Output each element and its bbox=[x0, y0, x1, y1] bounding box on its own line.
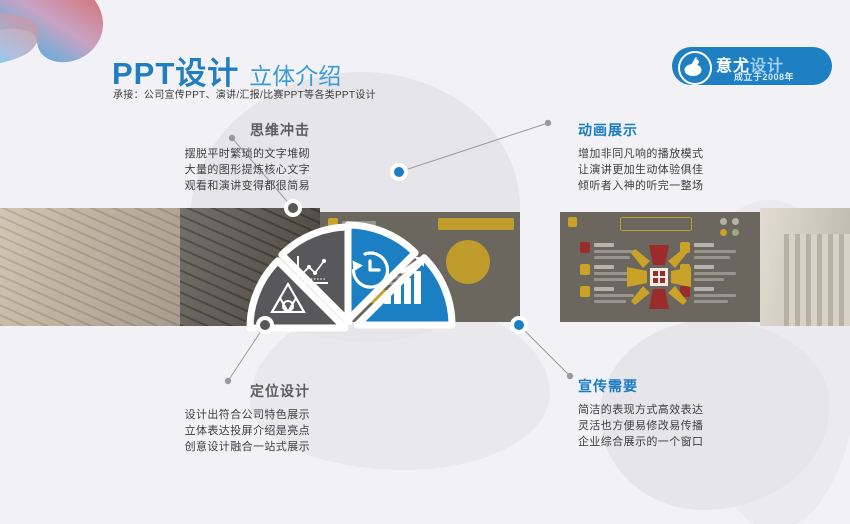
callout-line: 企业综合展示的一个窗口 bbox=[578, 434, 810, 450]
callout-title: 动画展示 bbox=[578, 120, 810, 140]
callout-title: 宣传需要 bbox=[578, 376, 810, 396]
callout-line: 立体表达投屏介绍是亮点 bbox=[78, 423, 310, 439]
callout-top-left: 思维冲击 摆脱平时繁琐的文字堆砌 大量的图形提炼核心文字 观看和演讲变得都很简易 bbox=[78, 120, 310, 194]
endpoint-dot-top-right bbox=[545, 120, 551, 126]
callout-line: 观看和演讲变得都很简易 bbox=[78, 178, 310, 194]
callout-bottom-right: 宣传需要 简洁的表现方式高效表达 灵活也方便易修改易传播 企业综合展示的一个窗口 bbox=[578, 376, 810, 450]
callout-line: 大量的图形提炼核心文字 bbox=[78, 162, 310, 178]
ppt-slide-preview-2 bbox=[560, 212, 760, 322]
callout-line: 简洁的表现方式高效表达 bbox=[578, 402, 810, 418]
wood-texture-left bbox=[0, 208, 180, 326]
callout-line: 创意设计融合一站式展示 bbox=[78, 439, 310, 455]
header-description: 承接：公司宣传PPT、演讲/汇报/比赛PPT等各类PPT设计 bbox=[113, 86, 376, 101]
endpoint-dot-bottom-right bbox=[567, 373, 573, 379]
callout-line: 增加非同凡响的播放模式 bbox=[578, 146, 810, 162]
callout-top-right: 动画展示 增加非同凡响的播放模式 让演讲更加生动体验俱佳 倾听者入神的听完一整场 bbox=[578, 120, 810, 194]
logo-established: 成立于2008年 bbox=[734, 70, 794, 83]
callout-line: 让演讲更加生动体验俱佳 bbox=[578, 162, 810, 178]
slide-canvas: PPT设计立体介绍 承接：公司宣传PPT、演讲/汇报/比赛PPT等各类PPT设计… bbox=[0, 0, 850, 524]
callout-line: 倾听者入神的听完一整场 bbox=[578, 178, 810, 194]
company-logo[interactable]: 意尤设计 成立于2008年 bbox=[672, 47, 832, 85]
callout-line: 设计出符合公司特色展示 bbox=[78, 407, 310, 423]
octagon-diagram-thumb bbox=[622, 240, 696, 314]
building-photo-right bbox=[760, 208, 850, 326]
callout-line: 灵活也方便易修改易传播 bbox=[578, 418, 810, 434]
callout-line: 摆脱平时繁琐的文字堆砌 bbox=[78, 146, 310, 162]
brush-circle-icon bbox=[678, 51, 712, 85]
callout-title: 思维冲击 bbox=[78, 120, 310, 140]
callout-title: 定位设计 bbox=[78, 381, 310, 401]
callout-bottom-left: 定位设计 设计出符合公司特色展示 立体表达投屏介绍是亮点 创意设计融合一站式展示 bbox=[78, 381, 310, 455]
